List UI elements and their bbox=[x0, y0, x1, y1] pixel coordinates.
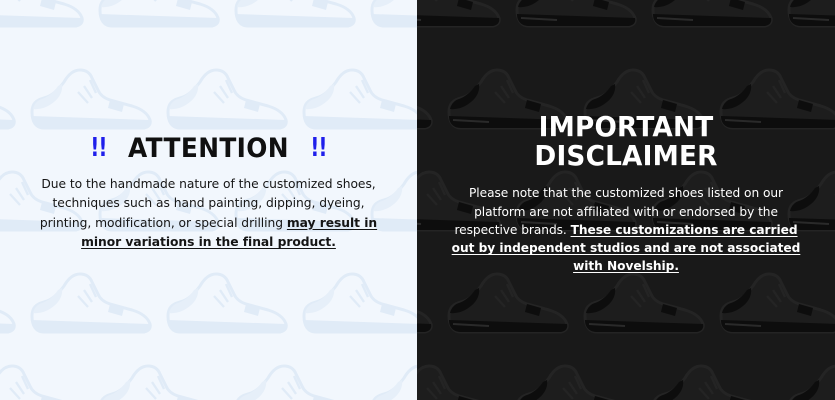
disclaimer-title-line-1: IMPORTANT bbox=[454, 112, 798, 141]
disclaimer-body: Please note that the customized shoes li… bbox=[443, 184, 809, 275]
disclaimer-title-line-2: DISCLAIMER bbox=[454, 141, 798, 170]
disclaimer-content: IMPORTANT DISCLAIMER Please note that th… bbox=[417, 112, 835, 288]
attention-body: Due to the handmade nature of the custom… bbox=[26, 175, 391, 253]
exclamation-left-icon: !! bbox=[90, 136, 106, 162]
attention-heading-row: !! ATTENTION !! bbox=[26, 135, 391, 162]
exclamation-right-icon: !! bbox=[310, 136, 326, 162]
attention-title: ATTENTION bbox=[128, 135, 289, 162]
disclaimer-panel: IMPORTANT DISCLAIMER Please note that th… bbox=[417, 0, 835, 400]
disclaimer-banner: !! ATTENTION !! Due to the handmade natu… bbox=[0, 0, 835, 400]
attention-content: !! ATTENTION !! Due to the handmade natu… bbox=[0, 135, 417, 265]
attention-panel: !! ATTENTION !! Due to the handmade natu… bbox=[0, 0, 417, 400]
disclaimer-title: IMPORTANT DISCLAIMER bbox=[454, 112, 798, 170]
